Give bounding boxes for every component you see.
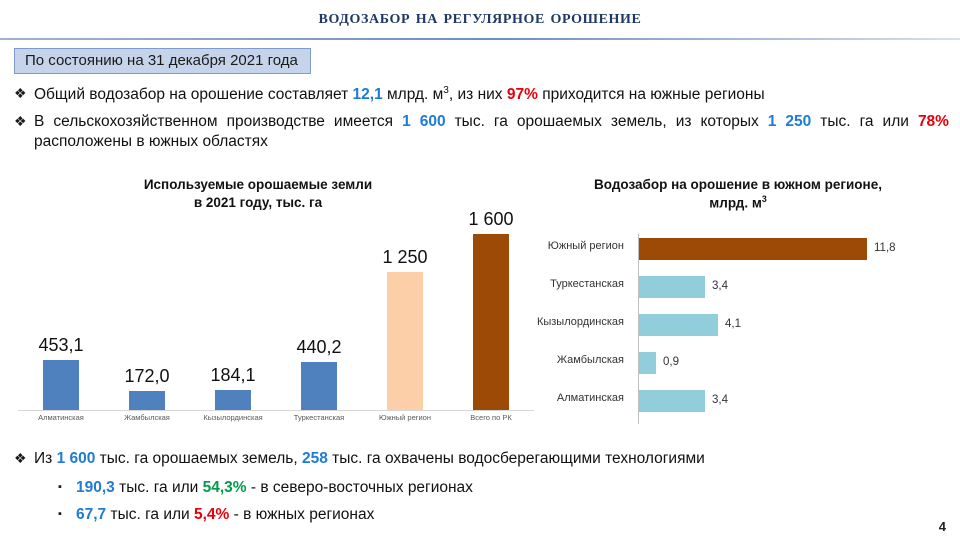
column-bar-group: 172,0 xyxy=(129,232,165,410)
left-chart-title-line1: Используемые орошаемые земли xyxy=(18,176,498,194)
column-value-label: 1 600 xyxy=(468,209,513,230)
title-divider xyxy=(0,38,960,40)
bullet-text: Общий водозабор на орошение составляет 1… xyxy=(34,84,949,106)
column-value-label: 440,2 xyxy=(296,337,341,358)
square-bullet-icon: ▪ xyxy=(58,506,76,523)
text-run: 54,3% xyxy=(203,479,247,496)
column-category-label: Всего по РК xyxy=(470,413,511,422)
date-chip: По состоянию на 31 декабря 2021 года xyxy=(14,48,311,74)
text-run: тыс. га охвачены водосберегающими технол… xyxy=(328,450,705,467)
bar-value-label: 4,1 xyxy=(725,318,741,330)
bullet-item: ❖Общий водозабор на орошение составляет … xyxy=(14,84,949,106)
column-value-label: 453,1 xyxy=(38,335,83,356)
text-run: - в северо-восточных регионах xyxy=(247,479,473,496)
bar-category-label: Туркестанская xyxy=(550,278,624,290)
right-chart-title: Водозабор на орошение в южном регионе, м… xyxy=(528,176,948,213)
text-run: млрд. м xyxy=(383,86,444,103)
column-category-label: Туркестанская xyxy=(294,413,344,422)
bar-row: Алматинская3,4 xyxy=(528,390,958,412)
column-bar-group: 184,1 xyxy=(215,232,251,410)
column-chart-category-labels: АлматинскаяЖамбылскаяКызылординскаяТурке… xyxy=(18,413,534,431)
bullet-item: ❖В сельскохозяйственном производстве име… xyxy=(14,112,949,153)
horizontal-bar xyxy=(639,390,705,412)
text-run: тыс. га или xyxy=(106,506,194,523)
column-category-label: Алматинская xyxy=(38,413,84,422)
text-run: , из них xyxy=(449,86,507,103)
text-run: Общий водозабор на орошение составляет xyxy=(34,86,353,103)
bar-value-label: 3,4 xyxy=(712,280,728,292)
text-run: тыс. га орошаемых земель, из которых xyxy=(446,113,768,130)
bar-row: Южный регион11,8 xyxy=(528,238,958,260)
text-run: 67,7 xyxy=(76,506,106,523)
right-chart-title-superscript: 3 xyxy=(762,194,767,204)
column-bar xyxy=(301,362,337,410)
sub-bullet-text: 67,7 тыс. га или 5,4% - в южных регионах xyxy=(76,506,374,524)
page-number: 4 xyxy=(939,519,946,534)
diamond-bullet-icon: ❖ xyxy=(14,112,34,132)
column-chart-baseline xyxy=(18,410,534,411)
column-bar-group: 1 600 xyxy=(473,232,509,410)
bar-category-label: Кызылординская xyxy=(537,316,624,328)
bottom-bullet-list: ❖Из 1 600 тыс. га орошаемых земель, 258 … xyxy=(14,449,949,524)
left-chart-title-line2: в 2021 году, тыс. га xyxy=(18,194,498,212)
column-value-label: 172,0 xyxy=(124,366,169,387)
column-bar xyxy=(473,234,509,410)
column-category-label: Южный регион xyxy=(379,413,431,422)
text-run: 12,1 xyxy=(353,86,383,103)
text-run: 78% xyxy=(918,113,949,130)
text-run: Из xyxy=(34,450,57,467)
column-bar-group: 453,1 xyxy=(43,232,79,410)
text-run: 1 250 xyxy=(768,113,812,130)
bullet-text: В сельскохозяйственном производстве имее… xyxy=(34,112,949,153)
diamond-bullet-icon: ❖ xyxy=(14,84,34,104)
bar-row: Туркестанская3,4 xyxy=(528,276,958,298)
right-chart-title-unit: млрд. м xyxy=(709,196,762,211)
irrigated-land-chart: 453,1172,0184,1440,21 2501 600 Алматинск… xyxy=(18,232,534,430)
south-water-intake-chart: Южный регион11,8Туркестанская3,4Кызылорд… xyxy=(528,232,958,430)
sub-bullet-item: ▪190,3 тыс. га или 54,3% - в северо-вост… xyxy=(58,479,949,497)
column-bar xyxy=(215,390,251,410)
horizontal-bar xyxy=(639,314,718,336)
square-bullet-icon: ▪ xyxy=(58,479,76,496)
text-run: 1 600 xyxy=(57,450,96,467)
sub-bullet-item: ▪67,7 тыс. га или 5,4% - в южных региона… xyxy=(58,506,949,524)
column-bar xyxy=(43,360,79,410)
bar-category-label: Южный регион xyxy=(548,240,624,252)
diamond-bullet-icon: ❖ xyxy=(14,449,34,469)
column-bar xyxy=(129,391,165,410)
column-bar-group: 1 250 xyxy=(387,232,423,410)
left-chart-title: Используемые орошаемые земли в 2021 году… xyxy=(18,176,498,212)
text-run: 97% xyxy=(507,86,538,103)
bar-row: Жамбылская0,9 xyxy=(528,352,958,374)
text-run: тыс. га или xyxy=(811,113,918,130)
column-category-label: Жамбылская xyxy=(124,413,170,422)
bar-value-label: 3,4 xyxy=(712,394,728,406)
text-run: 190,3 xyxy=(76,479,115,496)
horizontal-bar xyxy=(639,276,705,298)
bar-value-label: 0,9 xyxy=(663,356,679,368)
text-run: тыс. га или xyxy=(115,479,203,496)
right-chart-title-line2: млрд. м3 xyxy=(528,194,948,213)
bar-value-label: 11,8 xyxy=(874,242,896,254)
horizontal-bar xyxy=(639,238,867,260)
text-run: расположены в южных областях xyxy=(34,133,268,150)
column-value-label: 184,1 xyxy=(210,365,255,386)
column-bar xyxy=(387,272,423,410)
right-chart-title-line1: Водозабор на орошение в южном регионе, xyxy=(528,176,948,194)
text-run: 5,4% xyxy=(194,506,229,523)
column-value-label: 1 250 xyxy=(382,247,427,268)
bar-category-label: Алматинская xyxy=(557,392,624,404)
slide-root: Водозабор на регулярное орошение По сост… xyxy=(0,0,960,540)
page-title: Водозабор на регулярное орошение xyxy=(0,6,960,29)
column-plot-area: 453,1172,0184,1440,21 2501 600 xyxy=(18,232,534,410)
top-bullet-list: ❖Общий водозабор на орошение составляет … xyxy=(14,84,949,159)
text-run: - в южных регионах xyxy=(229,506,374,523)
bullet-text: Из 1 600 тыс. га орошаемых земель, 258 т… xyxy=(34,449,949,470)
column-bar-group: 440,2 xyxy=(301,232,337,410)
bar-row: Кызылординская4,1 xyxy=(528,314,958,336)
text-run: 258 xyxy=(302,450,328,467)
text-run: приходится на южные регионы xyxy=(538,86,765,103)
text-run: тыс. га орошаемых земель, xyxy=(95,450,302,467)
sub-bullet-text: 190,3 тыс. га или 54,3% - в северо-восто… xyxy=(76,479,473,497)
bullet-item: ❖Из 1 600 тыс. га орошаемых земель, 258 … xyxy=(14,449,949,470)
horizontal-bar xyxy=(639,352,656,374)
bar-category-label: Жамбылская xyxy=(557,354,624,366)
column-category-label: Кызылординская xyxy=(203,413,262,422)
text-run: 1 600 xyxy=(402,113,446,130)
text-run: В сельскохозяйственном производстве имее… xyxy=(34,113,402,130)
